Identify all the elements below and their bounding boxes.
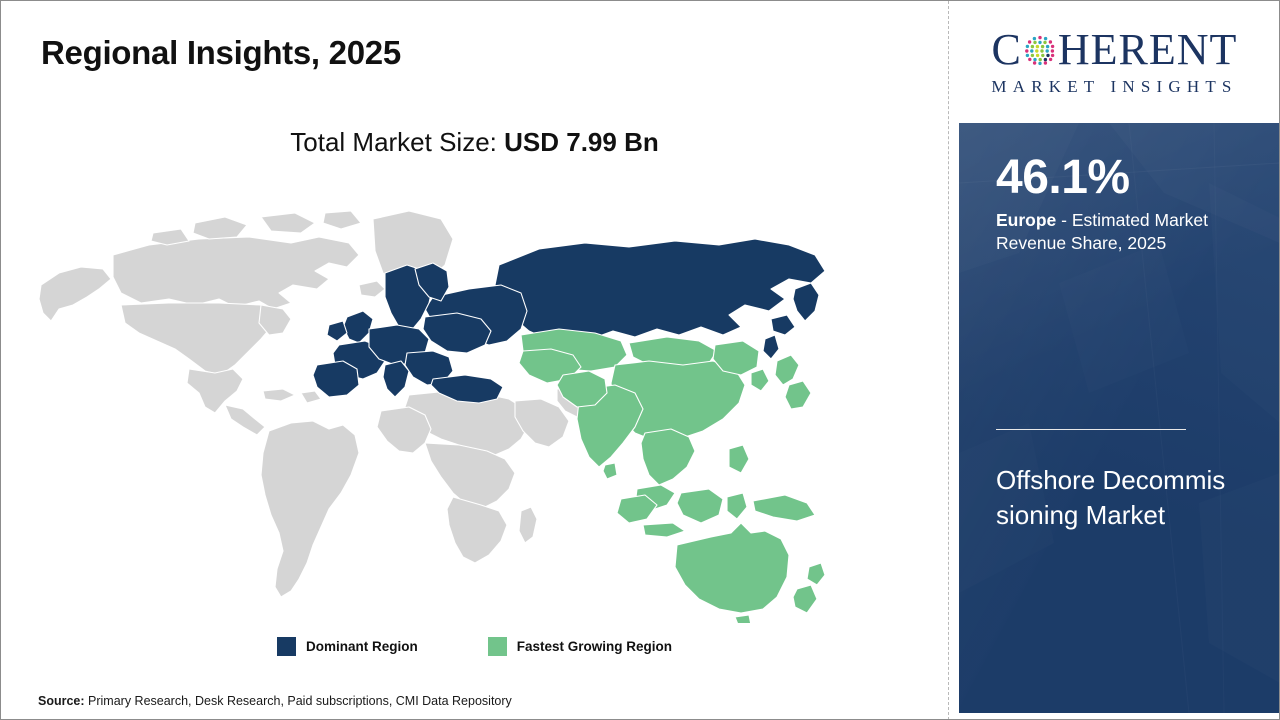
legend-item-dominant: Dominant Region xyxy=(277,637,418,656)
total-market-size: Total Market Size: USD 7.99 Bn xyxy=(1,127,948,158)
logo-wordmark: C xyxy=(992,26,1238,74)
legend-swatch-green-icon xyxy=(488,637,507,656)
stat-caption: Europe - Estimated Market Revenue Share,… xyxy=(996,209,1248,255)
stat-percent: 46.1% xyxy=(996,153,1248,203)
world-map-svg xyxy=(29,193,829,623)
source-text: Primary Research, Desk Research, Paid su… xyxy=(85,694,512,708)
market-name: Offshore Decommissioning Market xyxy=(996,463,1231,532)
logo-subtitle: MARKET INSIGHTS xyxy=(991,77,1237,97)
stat-content: 46.1% Europe - Estimated Market Revenue … xyxy=(996,153,1248,256)
dotted-globe-icon xyxy=(1023,33,1057,67)
market-size-label: Total Market Size: xyxy=(290,127,504,157)
world-map-container xyxy=(29,193,829,623)
map-legend: Dominant Region Fastest Growing Region xyxy=(1,637,948,656)
source-note: Source: Primary Research, Desk Research,… xyxy=(38,694,512,708)
legend-item-fastest-growing: Fastest Growing Region xyxy=(488,637,672,656)
stat-region-name: Europe xyxy=(996,210,1056,230)
page-title: Regional Insights, 2025 xyxy=(41,34,401,72)
legend-label-fastest-growing: Fastest Growing Region xyxy=(517,639,672,654)
left-panel: Regional Insights, 2025 Total Market Siz… xyxy=(1,1,948,719)
logo-word-herent: HERENT xyxy=(1058,28,1238,72)
legend-label-dominant: Dominant Region xyxy=(306,639,418,654)
infographic-canvas: Regional Insights, 2025 Total Market Siz… xyxy=(0,0,1280,720)
legend-swatch-navy-icon xyxy=(277,637,296,656)
source-label: Source: xyxy=(38,694,85,708)
logo-letter-c: C xyxy=(992,28,1022,72)
map-region-fastest-growing xyxy=(519,329,825,623)
market-size-value: USD 7.99 Bn xyxy=(504,127,659,157)
stat-divider xyxy=(996,429,1186,430)
brand-logo: C xyxy=(949,1,1280,122)
right-column: C xyxy=(949,1,1280,720)
stat-panel: 46.1% Europe - Estimated Market Revenue … xyxy=(959,123,1280,713)
